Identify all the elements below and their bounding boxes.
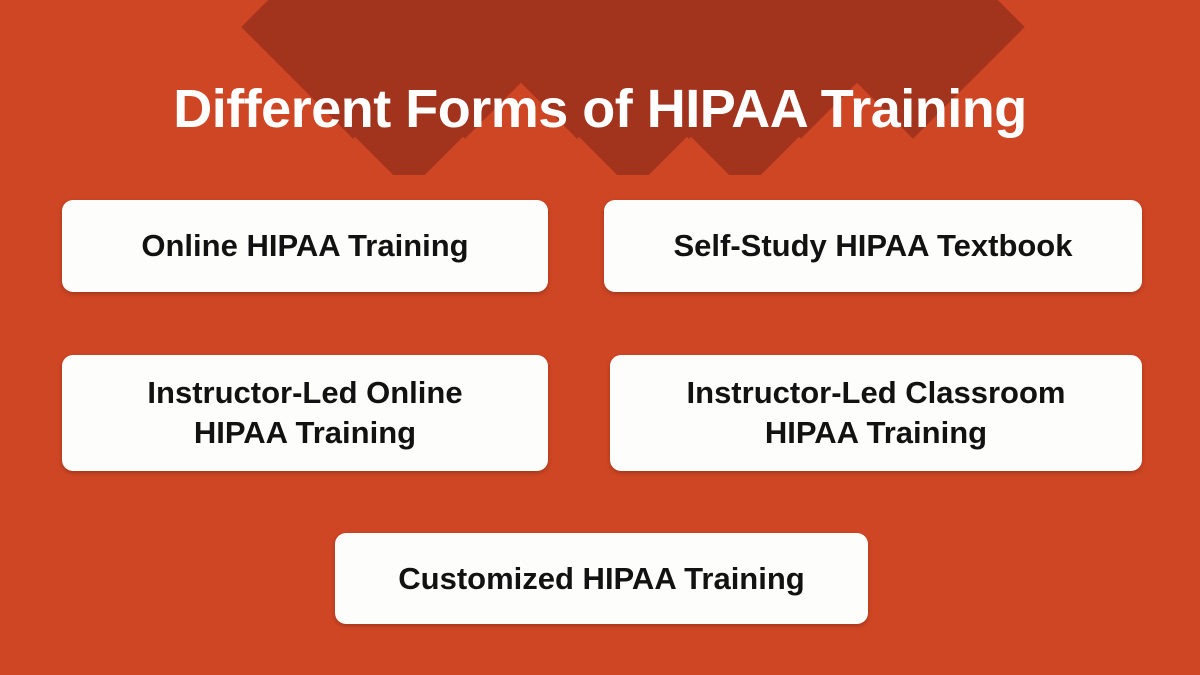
card-label: Instructor-Led Online HIPAA Training: [147, 373, 462, 452]
card-label: Self-Study HIPAA Textbook: [673, 226, 1072, 266]
hipaa-training-infographic: Different Forms of HIPAA Training Online…: [0, 0, 1200, 675]
page-title: Different Forms of HIPAA Training: [0, 80, 1200, 139]
card-customized-hipaa-training[interactable]: Customized HIPAA Training: [335, 533, 868, 624]
card-instructor-led-classroom-hipaa-training[interactable]: Instructor-Led Classroom HIPAA Training: [610, 355, 1142, 471]
card-instructor-led-online-hipaa-training[interactable]: Instructor-Led Online HIPAA Training: [62, 355, 548, 471]
card-self-study-hipaa-textbook[interactable]: Self-Study HIPAA Textbook: [604, 200, 1142, 292]
card-label: Online HIPAA Training: [141, 226, 468, 266]
card-label: Instructor-Led Classroom HIPAA Training: [687, 373, 1066, 452]
card-online-hipaa-training[interactable]: Online HIPAA Training: [62, 200, 548, 292]
card-label: Customized HIPAA Training: [398, 559, 804, 599]
